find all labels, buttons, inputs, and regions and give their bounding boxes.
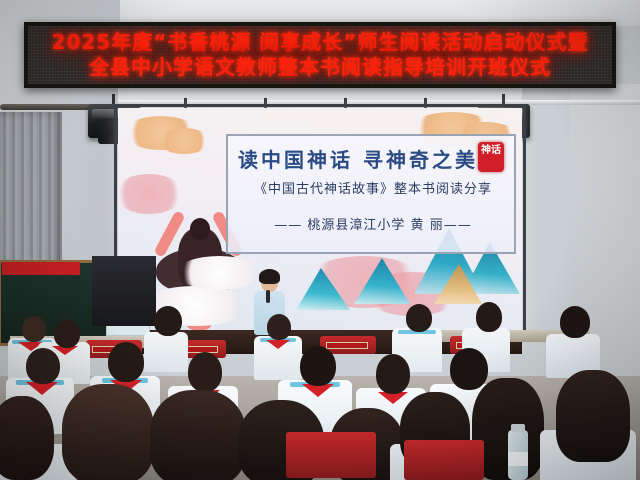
blackboard-banner <box>2 262 80 275</box>
led-scrolling-banner: 2025年度“书香桃源 阅享成长”师生阅读活动启动仪式暨 全县中小学语文教师整本… <box>24 22 616 88</box>
water-bottle-cap <box>511 424 525 432</box>
chair <box>286 432 376 478</box>
screenshot-root: 2025年度“书香桃源 阅享成长”师生阅读活动启动仪式暨 全县中小学语文教师整本… <box>0 0 640 480</box>
chair <box>404 440 484 480</box>
water-bottle-label <box>508 452 528 466</box>
banner-line-2: 全县中小学语文教师整本书阅读指导培训开班仪式 <box>89 55 551 80</box>
student-audience <box>0 300 640 480</box>
banner-line-1: 2025年度“书香桃源 阅享成长”师生阅读活动启动仪式暨 <box>52 30 589 55</box>
chair-label <box>326 342 368 349</box>
